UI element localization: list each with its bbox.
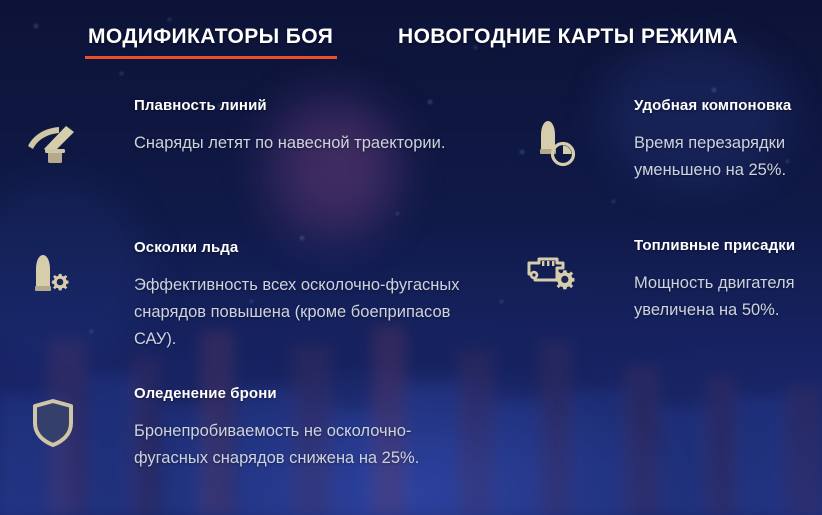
feature-text: Осколки льда Эффективность всех осколочн… [134, 238, 474, 353]
feature-title: Осколки льда [134, 238, 474, 258]
tab-new-year-mode-maps[interactable]: НОВОГОДНИЕ КАРТЫ РЕЖИМА [398, 22, 738, 52]
bokeh-speck [120, 72, 123, 75]
bokeh-speck [500, 300, 503, 303]
feature-item: Удобная компоновка Время перезарядки уме… [512, 96, 822, 184]
feature-title: Удобная компоновка [634, 96, 822, 116]
feature-item: Плавность линий Снаряды летят по навесно… [0, 96, 500, 157]
feature-item: Осколки льда Эффективность всех осколочн… [0, 238, 500, 353]
tab-bar: МОДИФИКАТОРЫ БОЯ НОВОГОДНИЕ КАРТЫ РЕЖИМА [0, 22, 822, 64]
bokeh-speck [168, 18, 171, 21]
tab-active-underline [85, 56, 337, 59]
shield-icon [22, 392, 84, 454]
feature-title: Плавность линий [134, 96, 494, 116]
howitzer-icon [22, 114, 84, 176]
tab-combat-modifiers[interactable]: МОДИФИКАТОРЫ БОЯ [88, 22, 333, 52]
bokeh-speck [712, 88, 716, 92]
bokeh-speck [396, 212, 399, 215]
feature-description: Бронепробиваемость не осколочно-фугасных… [134, 418, 474, 472]
feature-item: Топливные присадки Мощность двигателя ув… [512, 236, 822, 324]
feature-description: Снаряды летят по навесной траектории. [134, 130, 494, 157]
feature-description: Время перезарядки уменьшено на 25%. [634, 130, 822, 184]
feature-item: Оледенение брони Бронепробиваемость не о… [0, 384, 500, 472]
feature-title: Топливные присадки [634, 236, 809, 256]
feature-description: Эффективность всех осколочно-фугасных сн… [134, 272, 474, 353]
feature-text: Плавность линий Снаряды летят по навесно… [134, 96, 494, 157]
bokeh-speck [612, 200, 615, 203]
feature-text: Оледенение брони Бронепробиваемость не о… [134, 384, 474, 472]
feature-text: Удобная компоновка Время перезарядки уме… [634, 96, 822, 184]
shell-gear-icon [22, 246, 84, 308]
feature-title: Оледенение брони [134, 384, 474, 404]
shell-clock-icon [526, 112, 588, 174]
engine-gear-icon [520, 246, 582, 308]
feature-description: Мощность двигателя увеличена на 50%. [634, 270, 809, 324]
feature-text: Топливные присадки Мощность двигателя ув… [634, 236, 809, 324]
